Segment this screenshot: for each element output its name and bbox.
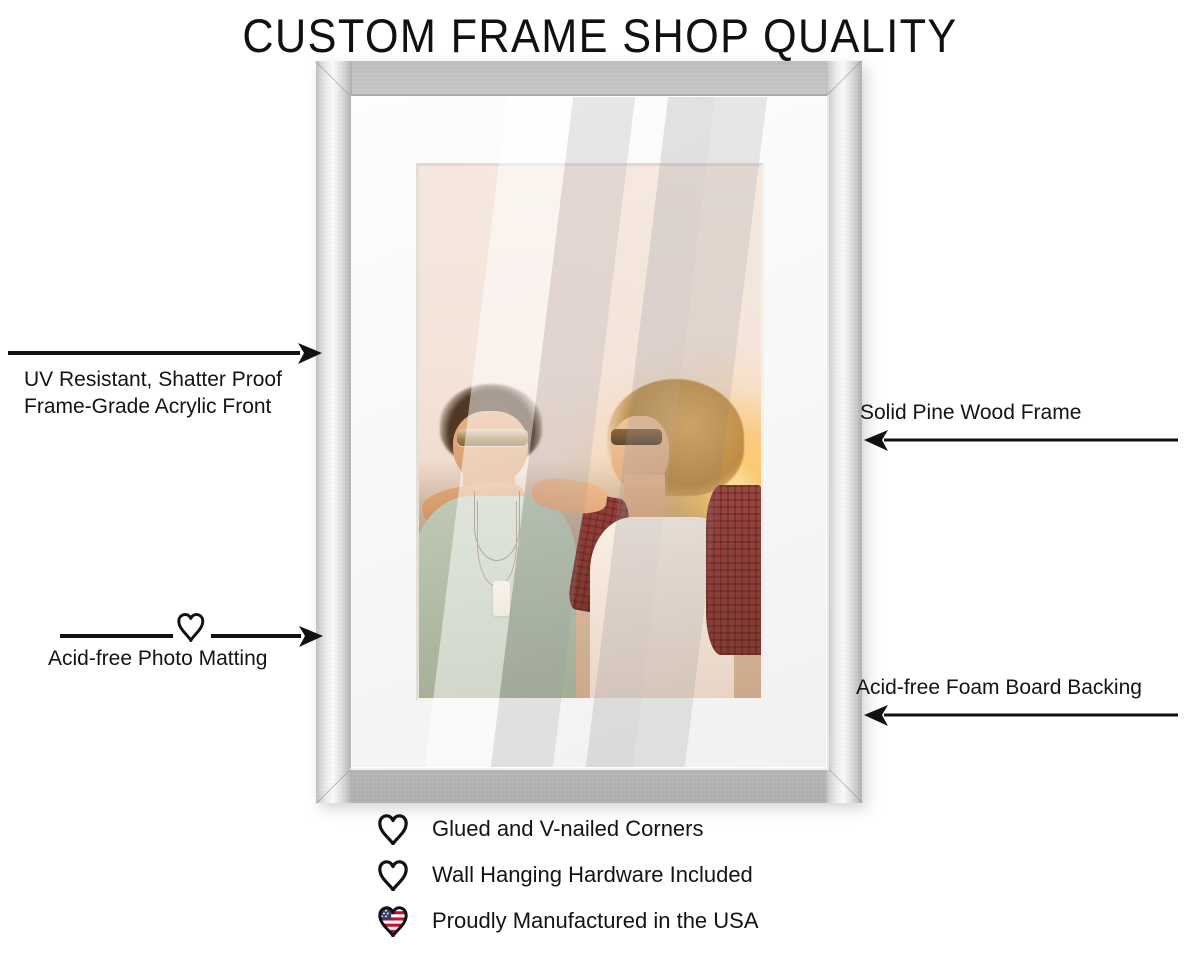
feature-label: Wall Hanging Hardware Included: [432, 862, 753, 888]
callout-foam-line-1: Acid-free Foam Board Backing: [856, 674, 1142, 701]
feature-row: Glued and V-nailed Corners: [376, 806, 936, 852]
heart-icon: [376, 812, 418, 846]
photo-woman-plaid-shirt-right: [706, 485, 761, 655]
photo-man-dog-tag: [493, 581, 510, 616]
callout-label-acrylic: UV Resistant, Shatter Proof Frame-Grade …: [24, 366, 282, 420]
callout-pine-line-1: Solid Pine Wood Frame: [860, 399, 1081, 426]
feature-row: Wall Hanging Hardware Included: [376, 852, 936, 898]
feature-row: Proudly Manufactured in the USA: [376, 898, 936, 944]
feature-label: Proudly Manufactured in the USA: [432, 908, 759, 934]
framed-picture: [316, 61, 862, 803]
photo-woman-sunglasses: [611, 429, 662, 445]
callout-acrylic-line-2: Frame-Grade Acrylic Front: [24, 393, 282, 420]
heart-icon: [179, 615, 203, 641]
framed-photograph: [419, 166, 761, 698]
callout-label-foam: Acid-free Foam Board Backing: [856, 674, 1142, 701]
usa-flag-heart-icon: [376, 904, 418, 938]
callout-label-matting: Acid-free Photo Matting: [48, 645, 267, 672]
callout-label-pine: Solid Pine Wood Frame: [860, 399, 1081, 426]
callout-arrow-acrylic: [0, 338, 330, 368]
callout-arrow-matting: [55, 608, 330, 650]
feature-label: Glued and V-nailed Corners: [432, 816, 704, 842]
heart-icon: [376, 858, 418, 892]
frame-rail-left: [316, 61, 352, 803]
callout-acrylic-line-1: UV Resistant, Shatter Proof: [24, 366, 282, 393]
photo-woman-neck: [624, 475, 665, 523]
photo-man-chain-necklace: [477, 501, 517, 587]
callout-matting-line-1: Acid-free Photo Matting: [48, 645, 267, 672]
callout-arrow-foam: [856, 700, 1186, 730]
feature-list: Glued and V-nailed Corners Wall Hanging …: [376, 806, 936, 944]
page-title: CUSTOM FRAME SHOP QUALITY: [48, 8, 1152, 64]
photo-man-sunglasses: [457, 429, 529, 446]
callout-arrow-pine: [856, 425, 1186, 455]
